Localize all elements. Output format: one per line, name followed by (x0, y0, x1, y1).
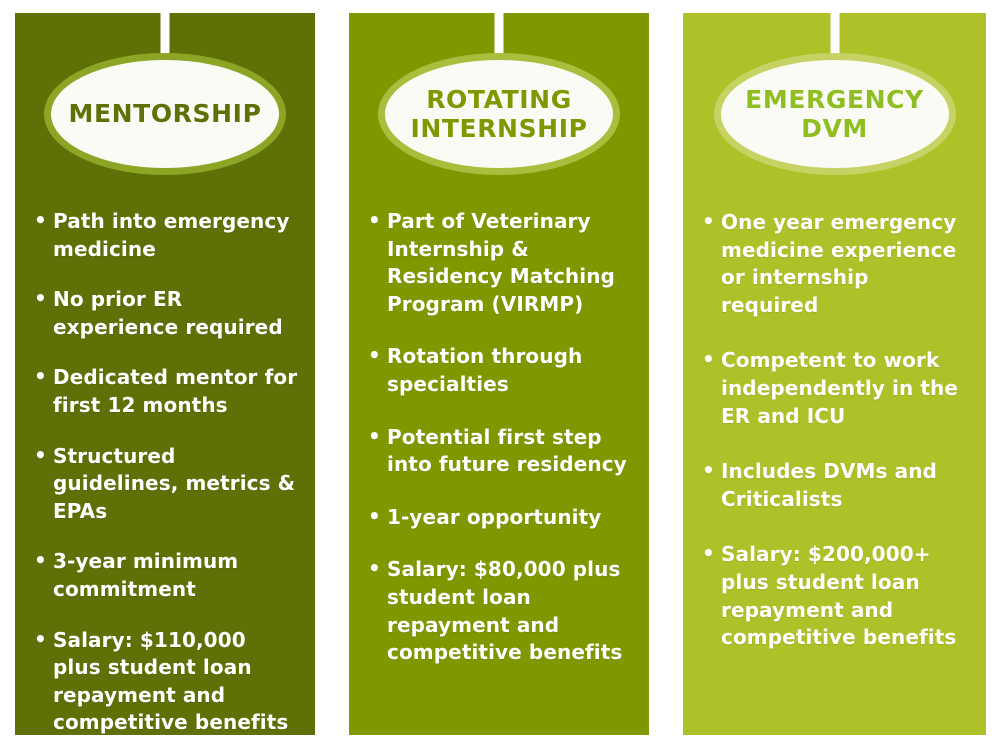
column-title-emergency-dvm: EMERGENCY DVM (735, 85, 934, 144)
bullet-list-rotating-internship: Part of Veterinary Internship & Residenc… (349, 208, 649, 667)
infographic-board: MENTORSHIP Path into emergency medicine … (0, 0, 1000, 750)
list-item: Salary: $80,000 plus student loan repaym… (367, 556, 633, 666)
list-item: No prior ER experience required (33, 286, 299, 341)
column-title-rotating-internship: ROTATING INTERNSHIP (400, 85, 597, 144)
list-item: Includes DVMs and Criticalists (701, 458, 970, 513)
list-item: 1-year opportunity (367, 504, 633, 532)
column-title-mentorship: MENTORSHIP (59, 99, 272, 129)
column-badge-rotating-internship: ROTATING INTERNSHIP (378, 53, 620, 175)
list-item: One year emergency medicine experience o… (701, 209, 970, 319)
list-item: Structured guidelines, metrics & EPAs (33, 443, 299, 526)
column-badge-emergency-dvm: EMERGENCY DVM (714, 53, 956, 175)
list-item: Salary: $200,000+ plus student loan repa… (701, 541, 970, 651)
column-panel-emergency-dvm: EMERGENCY DVM One year emergency medicin… (683, 13, 986, 735)
list-item: Rotation through specialties (367, 343, 633, 398)
list-item: Potential first step into future residen… (367, 424, 633, 479)
column-panel-rotating-internship: ROTATING INTERNSHIP Part of Veterinary I… (349, 13, 649, 735)
list-item: 3-year minimum commitment (33, 548, 299, 603)
list-item: Salary: $110,000 plus student loan repay… (33, 627, 299, 735)
list-item: Dedicated mentor for first 12 months (33, 364, 299, 419)
list-item: Path into emergency medicine (33, 208, 299, 263)
bullet-list-emergency-dvm: One year emergency medicine experience o… (683, 209, 986, 652)
column-panel-mentorship: MENTORSHIP Path into emergency medicine … (15, 13, 315, 735)
list-item: Part of Veterinary Internship & Residenc… (367, 208, 633, 318)
column-badge-mentorship: MENTORSHIP (44, 53, 286, 175)
bullet-list-mentorship: Path into emergency medicine No prior ER… (15, 208, 315, 735)
list-item: Competent to work independently in the E… (701, 347, 970, 430)
